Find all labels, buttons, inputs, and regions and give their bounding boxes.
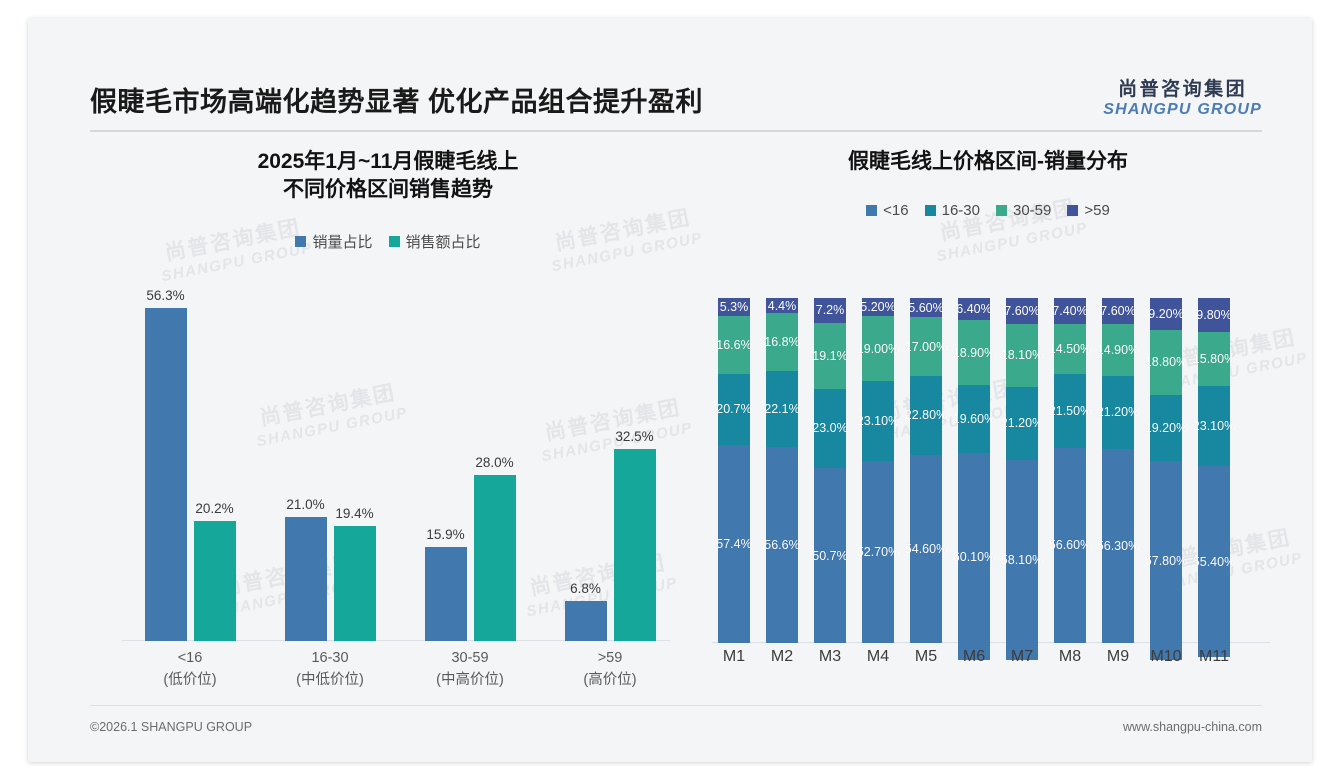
bar-slot: 21.0% xyxy=(285,286,327,641)
stack-value-label: 21.50% xyxy=(1049,404,1091,418)
stack-segment-16-30[interactable]: 22.80% xyxy=(910,376,942,455)
stack-segment-16-30[interactable]: 21.20% xyxy=(1102,376,1134,449)
stack-segment-16-30[interactable]: 19.20% xyxy=(1150,395,1182,461)
stacked-bar-M8[interactable]: 7.40%14.50%21.50%56.60% xyxy=(1054,298,1086,643)
legend-label: 30-59 xyxy=(1013,202,1051,219)
chart-legend-right: <1616-3030-59>59 xyxy=(698,202,1278,219)
stack-segment-30-59[interactable]: 15.80% xyxy=(1198,332,1230,387)
stacked-x-axis-tick: M10 xyxy=(1143,648,1189,666)
stack-segment-<16[interactable]: 55.40% xyxy=(1198,466,1230,657)
stacked-x-axis-tick: M11 xyxy=(1191,648,1237,666)
legend-swatch-icon xyxy=(996,205,1007,216)
stack-value-label: 52.70% xyxy=(857,545,899,559)
chart-title-right: 假睫毛线上价格区间-销量分布 xyxy=(698,148,1278,176)
stack-segment->59[interactable]: 9.20% xyxy=(1150,298,1182,330)
stack-segment-<16[interactable]: 50.7% xyxy=(814,468,846,643)
stacked-bar-M11[interactable]: 9.80%15.80%23.10%55.40% xyxy=(1198,298,1230,643)
stacked-bar-plot-area: 5.3%16.6%20.7%57.4%4.4%16.8%22.1%56.6%7.… xyxy=(712,298,1270,643)
stack-value-label: 23.10% xyxy=(1193,419,1235,433)
legend-swatch-icon xyxy=(1067,205,1078,216)
x-axis-tick: >59(高价位) xyxy=(552,648,668,692)
stacked-x-axis-tick: M6 xyxy=(951,648,997,666)
stack-value-label: 7.60% xyxy=(1004,304,1039,318)
chart-panel-stacked-bar: 假睫毛线上价格区间-销量分布 <1616-3030-59>59 5.3%16.6… xyxy=(698,148,1278,708)
x-axis-tick-note: (中低价位) xyxy=(272,670,388,692)
footer-website: www.shangpu-china.com xyxy=(1123,720,1262,734)
stacked-x-axis-tick: M7 xyxy=(999,648,1045,666)
bar-value-label: 32.5% xyxy=(615,429,653,444)
chart-title-left: 2025年1月~11月假睫毛线上 不同价格区间销售趋势 xyxy=(88,148,688,205)
chart-panel-grouped-bar: 2025年1月~11月假睫毛线上 不同价格区间销售趋势 销量占比销售额占比 56… xyxy=(88,148,688,708)
bar-group: 6.8%32.5% xyxy=(552,286,668,641)
legend-right-item-2[interactable]: 30-59 xyxy=(996,202,1051,219)
stack-value-label: 16.8% xyxy=(764,335,799,349)
slide-header: 假睫毛市场高端化趋势显著 优化产品组合提升盈利 尚普咨询集团 SHANGPU G… xyxy=(28,18,1312,116)
legend-label: 16-30 xyxy=(942,202,980,219)
stacked-bar-M9[interactable]: 7.60%14.90%21.20%56.30% xyxy=(1102,298,1134,643)
stack-value-label: 60.10% xyxy=(953,550,995,564)
stack-segment-<16[interactable]: 56.60% xyxy=(1054,448,1086,643)
stack-segment-30-59[interactable]: 17.00% xyxy=(910,317,942,376)
stack-value-label: 23.0% xyxy=(812,421,847,435)
stack-value-label: 19.1% xyxy=(812,349,847,363)
bar-销量占比->59[interactable] xyxy=(565,601,607,641)
stack-value-label: 17.00% xyxy=(905,340,947,354)
bar-value-label: 21.0% xyxy=(286,497,324,512)
stack-segment-30-59[interactable]: 16.6% xyxy=(718,316,750,373)
legend-right-item-3[interactable]: >59 xyxy=(1067,202,1109,219)
bar-group: 15.9%28.0% xyxy=(412,286,528,641)
stack-segment-<16[interactable]: 57.80% xyxy=(1150,461,1182,660)
x-axis-tick-range: <16 xyxy=(132,648,248,670)
legend-label: 销量占比 xyxy=(312,231,372,252)
stacked-bar-M7[interactable]: 7.60%18.10%21.20%58.10% xyxy=(1006,298,1038,643)
stack-segment-30-59[interactable]: 14.50% xyxy=(1054,324,1086,374)
stack-value-label: 57.80% xyxy=(1145,554,1187,568)
stacked-x-axis-tick: M4 xyxy=(855,648,901,666)
stack-value-label: 5.20% xyxy=(860,300,895,314)
stack-segment-16-30[interactable]: 19.60% xyxy=(958,385,990,453)
stack-segment-16-30[interactable]: 20.7% xyxy=(718,374,750,445)
stack-segment->59[interactable]: 4.4% xyxy=(766,298,798,313)
stack-segment-30-59[interactable]: 14.90% xyxy=(1102,324,1134,375)
x-axis-tick: 30-59(中高价位) xyxy=(412,648,528,692)
bar-销量占比-<16[interactable] xyxy=(145,308,187,641)
stack-segment-<16[interactable]: 56.30% xyxy=(1102,449,1134,643)
bar-销量占比-16-30[interactable] xyxy=(285,517,327,641)
stack-value-label: 16.6% xyxy=(716,338,751,352)
grouped-bar-plot-area: 56.3%20.2%21.0%19.4%15.9%28.0%6.8%32.5% xyxy=(122,286,670,641)
legend-swatch-icon xyxy=(866,205,877,216)
stacked-bar-M10[interactable]: 9.20%18.80%19.20%57.80% xyxy=(1150,298,1182,643)
stack-segment-<16[interactable]: 57.4% xyxy=(718,445,750,643)
chart-title-left-line2: 不同价格区间销售趋势 xyxy=(88,176,688,204)
bar-slot: 32.5% xyxy=(614,286,656,641)
stack-value-label: 57.4% xyxy=(716,537,751,551)
stack-segment-<16[interactable]: 56.6% xyxy=(766,447,798,642)
stack-segment->59[interactable]: 7.2% xyxy=(814,298,846,323)
stack-value-label: 4.4% xyxy=(768,299,797,313)
stack-value-label: 15.80% xyxy=(1193,352,1235,366)
x-axis-tick-note: (高价位) xyxy=(552,670,668,692)
stack-value-label: 5.60% xyxy=(908,301,943,315)
chart-legend-left: 销量占比销售额占比 xyxy=(88,231,688,252)
stack-value-label: 58.10% xyxy=(1001,553,1043,567)
stack-value-label: 56.60% xyxy=(1049,538,1091,552)
stacked-bar-M5[interactable]: 5.60%17.00%22.80%54.60% xyxy=(910,298,942,643)
x-axis-tick: 16-30(中低价位) xyxy=(272,648,388,692)
stack-value-label: 22.1% xyxy=(764,402,799,416)
stacked-x-axis-tick: M8 xyxy=(1047,648,1093,666)
legend-swatch-icon xyxy=(925,205,936,216)
stack-value-label: 56.6% xyxy=(764,538,799,552)
header-divider xyxy=(90,130,1262,132)
chart-title-left-line1: 2025年1月~11月假睫毛线上 xyxy=(88,148,688,176)
bar-slot: 28.0% xyxy=(474,286,516,641)
stack-segment-16-30[interactable]: 23.10% xyxy=(1198,386,1230,466)
legend-label: 销售额占比 xyxy=(406,231,481,252)
stack-segment->59[interactable]: 5.20% xyxy=(862,298,894,316)
stacked-x-axis-tick: M5 xyxy=(903,648,949,666)
stacked-bar-M2[interactable]: 4.4%16.8%22.1%56.6% xyxy=(766,298,798,643)
stack-segment-<16[interactable]: 52.70% xyxy=(862,461,894,643)
legend-left-item-0[interactable]: 销量占比 xyxy=(295,231,372,252)
stack-segment->59[interactable]: 9.80% xyxy=(1198,298,1230,332)
stack-value-label: 56.30% xyxy=(1097,539,1139,553)
stack-segment-16-30[interactable]: 23.0% xyxy=(814,389,846,468)
stack-value-label: 21.20% xyxy=(1097,405,1139,419)
bar-group: 56.3%20.2% xyxy=(132,286,248,641)
stacked-x-axis-tick: M2 xyxy=(759,648,805,666)
stack-segment-<16[interactable]: 54.60% xyxy=(910,455,942,643)
stack-segment-30-59[interactable]: 18.90% xyxy=(958,320,990,385)
legend-left-item-1[interactable]: 销售额占比 xyxy=(389,231,481,252)
bar-value-label: 15.9% xyxy=(426,527,464,542)
bar-value-label: 56.3% xyxy=(146,288,184,303)
legend-right-item-0[interactable]: <16 xyxy=(866,202,908,219)
stacked-x-axis-tick: M1 xyxy=(711,648,757,666)
bar-销售额占比-<16[interactable] xyxy=(194,521,236,641)
stack-value-label: 14.90% xyxy=(1097,343,1139,357)
footer-copyright: ©2026.1 SHANGPU GROUP xyxy=(90,720,252,734)
x-axis-tick: <16(低价位) xyxy=(132,648,248,692)
stack-segment->59[interactable]: 6.40% xyxy=(958,298,990,320)
stack-value-label: 55.40% xyxy=(1193,555,1235,569)
bar-销量占比-30-59[interactable] xyxy=(425,547,467,641)
stack-value-label: 54.60% xyxy=(905,542,947,556)
legend-swatch-icon xyxy=(295,236,306,247)
stack-value-label: 22.80% xyxy=(905,408,947,422)
x-axis-tick-range: 16-30 xyxy=(272,648,388,670)
x-axis-tick-range: >59 xyxy=(552,648,668,670)
stack-value-label: 18.90% xyxy=(953,346,995,360)
stack-segment-16-30[interactable]: 21.50% xyxy=(1054,374,1086,448)
x-axis-tick-note: (中高价位) xyxy=(412,670,528,692)
stack-segment->59[interactable]: 7.40% xyxy=(1054,298,1086,324)
stacked-bar-M6[interactable]: 6.40%18.90%19.60%60.10% xyxy=(958,298,990,643)
stack-value-label: 23.10% xyxy=(857,414,899,428)
slide-canvas: 尚普咨询集团 SHANGPU GROUP 尚普咨询集团 SHANGPU GROU… xyxy=(28,18,1312,762)
bar-value-label: 20.2% xyxy=(195,501,233,516)
stack-segment-30-59[interactable]: 16.8% xyxy=(766,313,798,371)
stack-segment-30-59[interactable]: 19.1% xyxy=(814,323,846,389)
stack-value-label: 50.7% xyxy=(812,549,847,563)
stack-value-label: 19.60% xyxy=(953,412,995,426)
stack-value-label: 9.20% xyxy=(1148,307,1183,321)
stacked-x-axis-tick: M3 xyxy=(807,648,853,666)
stacked-bar-M1[interactable]: 5.3%16.6%20.7%57.4% xyxy=(718,298,750,643)
bar-销售额占比->59[interactable] xyxy=(614,449,656,641)
stack-value-label: 5.3% xyxy=(720,300,749,314)
stack-value-label: 9.80% xyxy=(1196,308,1231,322)
stack-segment-16-30[interactable]: 21.20% xyxy=(1006,387,1038,460)
legend-label: >59 xyxy=(1084,202,1109,219)
stack-segment-30-59[interactable]: 19.00% xyxy=(862,316,894,382)
stack-value-label: 21.20% xyxy=(1001,416,1043,430)
stack-segment-30-59[interactable]: 18.10% xyxy=(1006,324,1038,386)
stacked-x-axis-labels: M1M2M3M4M5M6M7M8M9M10M11 xyxy=(712,648,1270,678)
logo-chinese-text: 尚普咨询集团 xyxy=(1103,80,1262,99)
stack-segment-16-30[interactable]: 23.10% xyxy=(862,381,894,461)
stack-segment->59[interactable]: 7.60% xyxy=(1006,298,1038,324)
stack-value-label: 18.80% xyxy=(1145,355,1187,369)
stack-segment->59[interactable]: 7.60% xyxy=(1102,298,1134,324)
footer-divider xyxy=(90,705,1262,706)
stack-value-label: 14.50% xyxy=(1049,342,1091,356)
stack-segment-<16[interactable]: 58.10% xyxy=(1006,460,1038,660)
legend-right-item-1[interactable]: 16-30 xyxy=(925,202,980,219)
bar-value-label: 28.0% xyxy=(475,455,513,470)
legend-label: <16 xyxy=(883,202,908,219)
stack-segment->59[interactable]: 5.60% xyxy=(910,298,942,317)
bar-slot: 6.8% xyxy=(565,286,607,641)
stacked-bar-M4[interactable]: 5.20%19.00%23.10%52.70% xyxy=(862,298,894,643)
legend-swatch-icon xyxy=(389,236,400,247)
stack-segment-<16[interactable]: 60.10% xyxy=(958,453,990,660)
bar-slot: 19.4% xyxy=(334,286,376,641)
bar-slot: 56.3% xyxy=(145,286,187,641)
bar-group: 21.0%19.4% xyxy=(272,286,388,641)
stack-value-label: 18.10% xyxy=(1001,348,1043,362)
stack-value-label: 6.40% xyxy=(956,302,991,316)
stack-segment->59[interactable]: 5.3% xyxy=(718,298,750,316)
stack-segment-30-59[interactable]: 18.80% xyxy=(1150,330,1182,395)
bar-value-label: 6.8% xyxy=(570,581,601,596)
bar-销售额占比-30-59[interactable] xyxy=(474,475,516,641)
stack-value-label: 19.20% xyxy=(1145,421,1187,435)
stack-segment-16-30[interactable]: 22.1% xyxy=(766,371,798,447)
grouped-x-axis-labels: <16(低价位)16-30(中低价位)30-59(中高价位)>59(高价位) xyxy=(122,648,670,708)
brand-logo: 尚普咨询集团 SHANGPU GROUP xyxy=(1103,80,1262,118)
x-axis-tick-note: (低价位) xyxy=(132,670,248,692)
stack-value-label: 7.60% xyxy=(1100,304,1135,318)
bar-销售额占比-16-30[interactable] xyxy=(334,526,376,641)
stack-value-label: 7.2% xyxy=(816,303,845,317)
bar-slot: 15.9% xyxy=(425,286,467,641)
bar-value-label: 19.4% xyxy=(335,506,373,521)
logo-english-text: SHANGPU GROUP xyxy=(1103,102,1262,118)
stack-value-label: 19.00% xyxy=(857,342,899,356)
stacked-bar-M3[interactable]: 7.2%19.1%23.0%50.7% xyxy=(814,298,846,643)
stack-value-label: 20.7% xyxy=(716,402,751,416)
bar-slot: 20.2% xyxy=(194,286,236,641)
stack-value-label: 7.40% xyxy=(1052,304,1087,318)
stacked-x-axis-tick: M9 xyxy=(1095,648,1141,666)
x-axis-tick-range: 30-59 xyxy=(412,648,528,670)
page-title: 假睫毛市场高端化趋势显著 优化产品组合提升盈利 xyxy=(90,80,703,119)
